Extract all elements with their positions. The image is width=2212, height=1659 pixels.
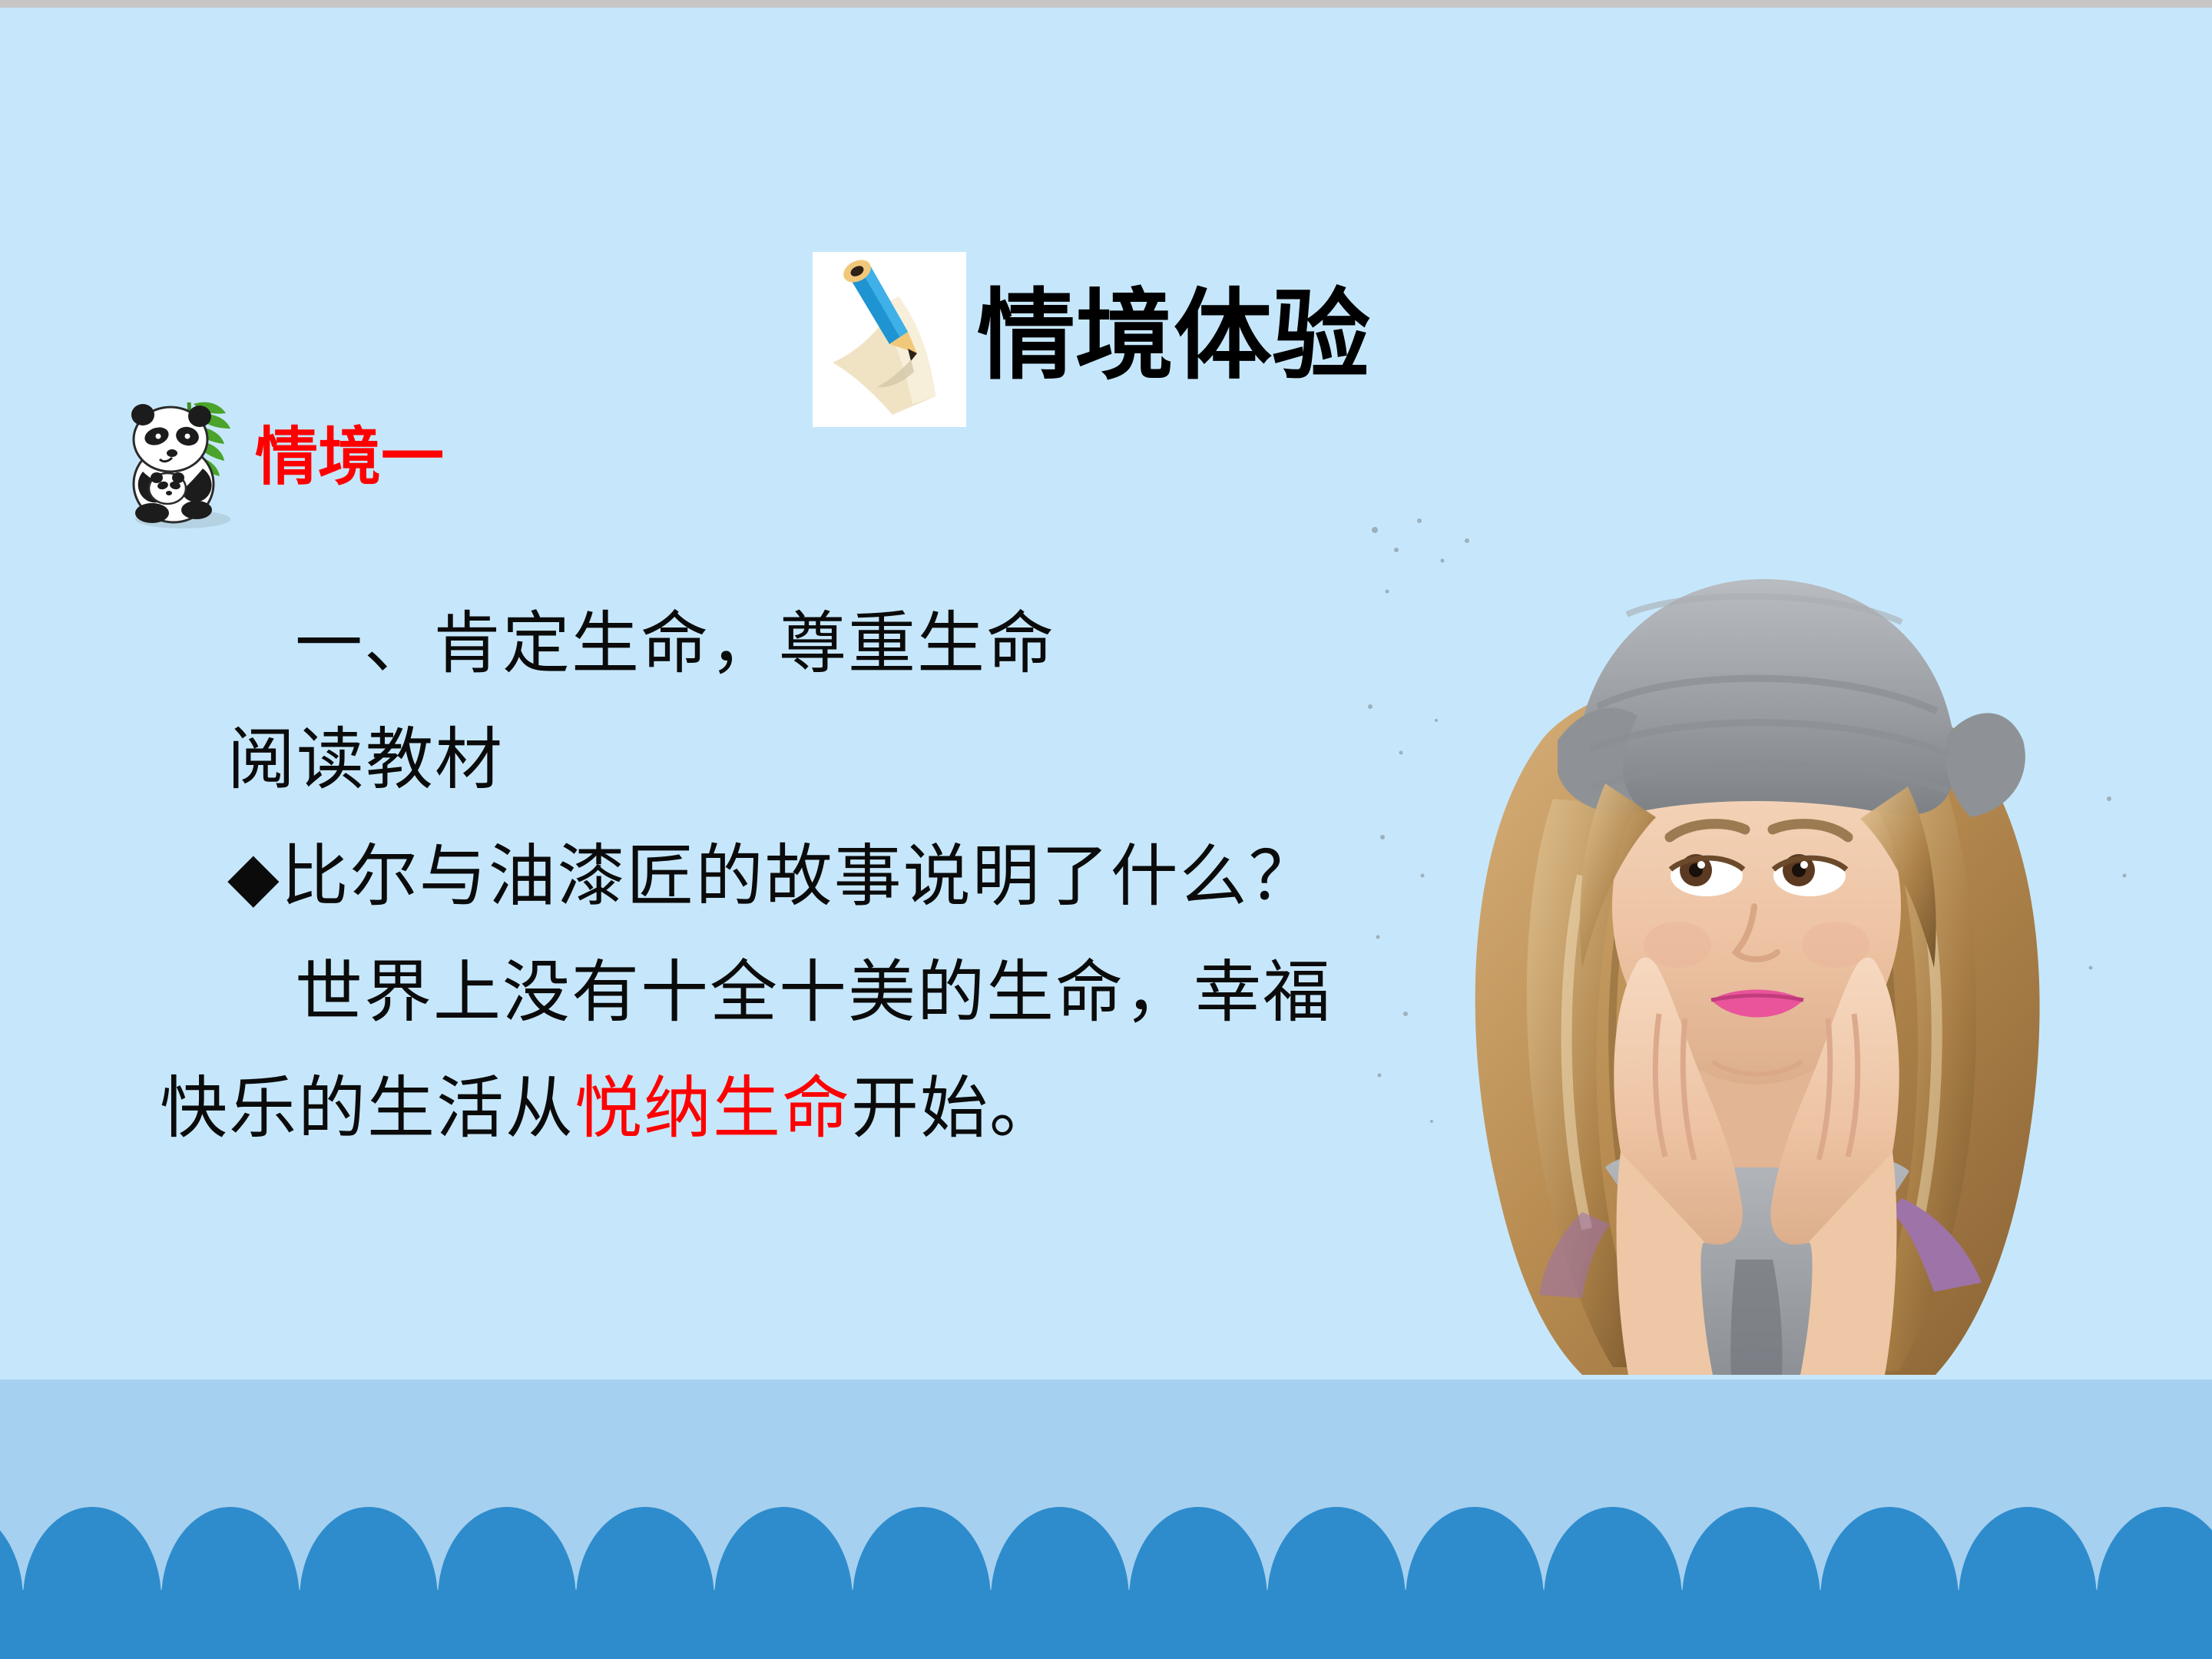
body-line-4-highlight: 悦纳生命: [575, 1070, 851, 1146]
scallop-row-front: [0, 1590, 2212, 1659]
body-line-3: ◆比尔与油漆匠的故事说明了什么？: [160, 818, 1358, 934]
scenario-label: 情境一: [255, 426, 444, 497]
scallop-shape: [2166, 1590, 2212, 1659]
scallop-shape: [645, 1590, 783, 1659]
scallop-shape: [1336, 1590, 1475, 1659]
scallop-shape: [0, 1590, 92, 1659]
scenario-heading: 情境一: [123, 392, 444, 531]
scallop-shape: [1475, 1590, 1613, 1659]
girl-photo: [1352, 476, 2143, 1382]
presentation-slide: 情境体验: [0, 0, 2212, 1659]
scallop-shape: [1751, 1590, 1889, 1659]
body-line-1: 一、肯定生命，尊重生命: [160, 585, 1358, 701]
pencil-writing-on-paper-icon: [813, 252, 966, 427]
scallop-shape: [2028, 1590, 2166, 1659]
slide-title-text: 情境体验: [977, 287, 1370, 392]
scallop-shape: [1889, 1590, 2028, 1659]
body-line-2: 阅读教材: [160, 701, 1358, 817]
scallop-shape: [369, 1590, 507, 1659]
scallop-shape: [230, 1590, 369, 1659]
scallop-shape: [1613, 1590, 1751, 1659]
scallop-shape: [783, 1590, 922, 1659]
scallop-shape: [92, 1590, 230, 1659]
body-text-block: 一、肯定生命，尊重生命 阅读教材 ◆比尔与油漆匠的故事说明了什么？ 世界上没有十…: [160, 585, 1358, 1167]
scallop-shape: [507, 1590, 645, 1659]
panda-with-bamboo-icon: [123, 392, 238, 531]
slide-title: 情境体验: [813, 252, 1370, 427]
body-line-4: 世界上没有十全十美的生命，幸福快乐的生活从悦纳生命开始。: [160, 934, 1358, 1167]
body-line-4-suffix: 开始。: [851, 1070, 1058, 1146]
scallop-shape: [922, 1590, 1060, 1659]
scallop-shape: [1198, 1590, 1336, 1659]
scallop-shape: [1060, 1590, 1198, 1659]
